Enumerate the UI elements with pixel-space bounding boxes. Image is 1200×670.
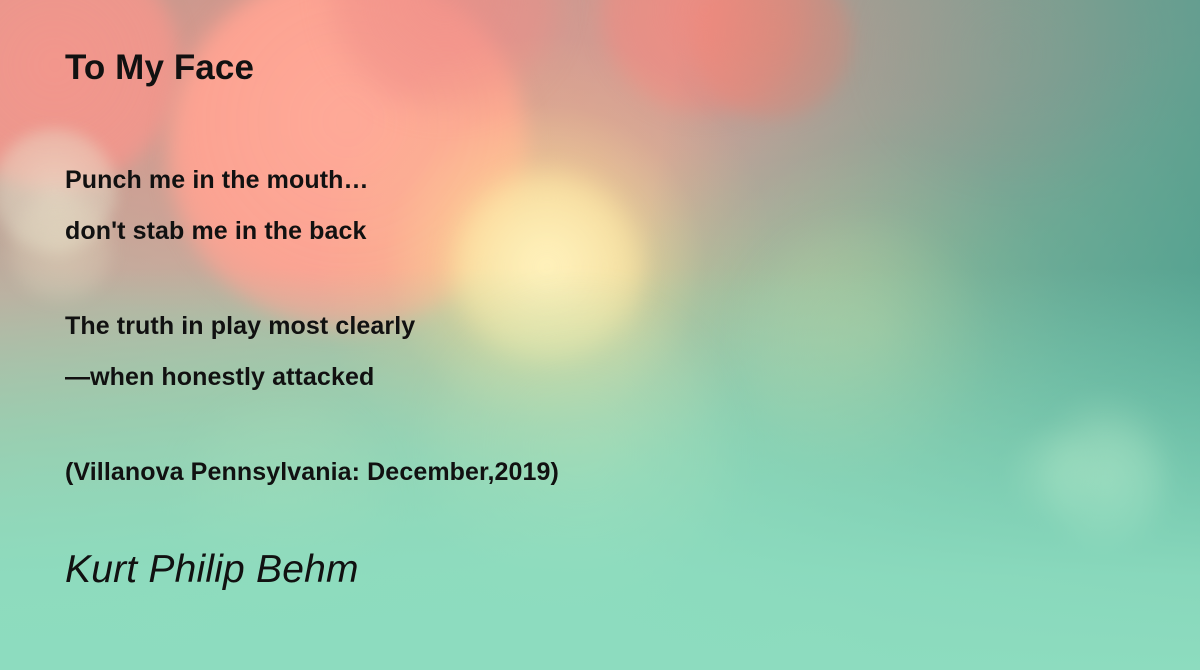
poem-line: Punch me in the mouth… xyxy=(65,155,1065,206)
bokeh-circle-mint-right-b xyxy=(1050,425,1160,545)
poem-line: The truth in play most clearly xyxy=(65,301,1065,352)
bokeh-circle-mint-center-low xyxy=(760,600,880,670)
poem-image-card: To My Face Punch me in the mouth… don't … xyxy=(0,0,1200,670)
bokeh-circle-mint-bottom-left xyxy=(95,610,235,670)
stanza-1: Punch me in the mouth… don't stab me in … xyxy=(65,155,1065,257)
place-and-date: (Villanova Pennsylvania: December,2019) xyxy=(65,447,1065,498)
author-signature: Kurt Philip Behm xyxy=(65,550,1065,589)
poem-line: don't stab me in the back xyxy=(65,206,1065,257)
poem-text-block: To My Face Punch me in the mouth… don't … xyxy=(65,50,1065,589)
page-title: To My Face xyxy=(65,50,1065,85)
poem-line: —when honestly attacked xyxy=(65,352,1065,403)
stanza-2: The truth in play most clearly —when hon… xyxy=(65,301,1065,403)
bokeh-circle-mint-bottom-center xyxy=(440,630,550,670)
